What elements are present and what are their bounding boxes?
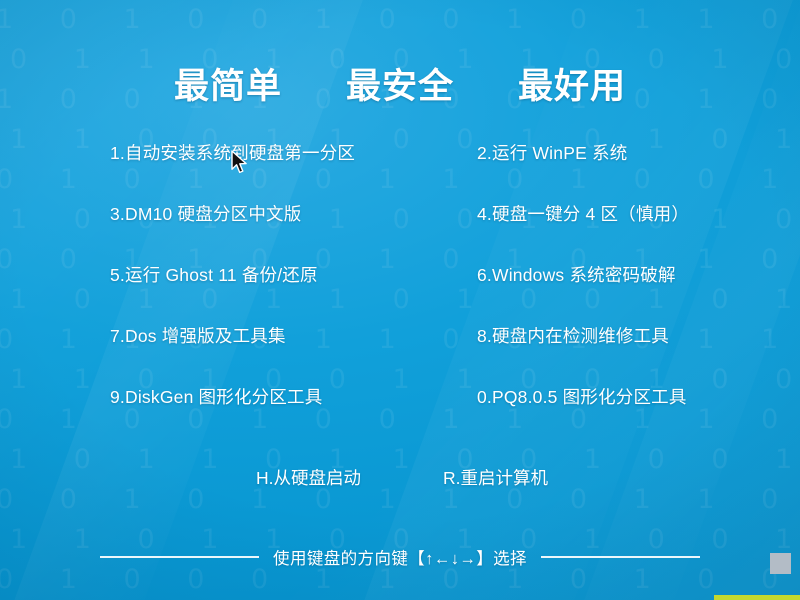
boot-menu-list: 1.自动安装系统到硬盘第一分区 2.运行 WinPE 系统 3.DM10 硬盘分… [0,140,800,445]
binary-texture-row: 1 0 1 1 0 1 1 0 0 1 0 0 1 0 1 0 1 1 0 0 [10,440,800,480]
boot-menu-screen: 1 0 1 0 0 1 0 0 1 0 1 1 0 0 1 0 1 0 0 10… [0,0,800,600]
menu-item-4[interactable]: 4.硬盘一键分 4 区（慎用） [477,201,689,226]
bottom-accent-bar [714,595,800,600]
menu-item-0[interactable]: 0.PQ8.0.5 图形化分区工具 [477,384,687,409]
menu-row: 3.DM10 硬盘分区中文版 4.硬盘一键分 4 区（慎用） [0,201,800,262]
menu-row: 9.DiskGen 图形化分区工具 0.PQ8.0.5 图形化分区工具 [0,384,800,445]
footer-hint: 使用键盘的方向键【↑←↓→】选择 [100,545,700,569]
headline-word-easiest: 最好用 [518,58,626,109]
menu-item-7[interactable]: 7.Dos 增强版及工具集 [110,323,286,348]
headline-slogan: 最简单 最安全 最好用 [0,58,800,109]
headline-word-safest: 最安全 [346,58,454,109]
menu-row: 7.Dos 增强版及工具集 8.硬盘内在检测维修工具 [0,323,800,384]
menu-item-boot-from-hdd[interactable]: H.从硬盘启动 [256,465,361,490]
menu-row: 5.运行 Ghost 11 备份/还原 6.Windows 系统密码破解 [0,262,800,323]
menu-item-2[interactable]: 2.运行 WinPE 系统 [477,140,627,165]
menu-item-5[interactable]: 5.运行 Ghost 11 备份/还原 [110,262,318,287]
menu-row: 1.自动安装系统到硬盘第一分区 2.运行 WinPE 系统 [0,140,800,201]
menu-item-1[interactable]: 1.自动安装系统到硬盘第一分区 [110,140,355,165]
menu-item-6[interactable]: 6.Windows 系统密码破解 [477,262,676,287]
footer-rule-left [100,556,259,558]
menu-item-reboot[interactable]: R.重启计算机 [443,465,548,490]
footer-rule-right [541,556,700,558]
headline-word-simplest: 最简单 [174,58,282,109]
footer-hint-text: 使用键盘的方向键【↑←↓→】选择 [273,545,527,569]
binary-texture-row: 0 0 1 0 1 0 1 1 0 0 1 1 0 1 0 0 1 0 1 1 [0,480,800,520]
binary-texture-row: 1 0 1 0 0 1 0 0 1 0 1 1 0 0 1 0 1 0 0 1 [0,0,800,40]
menu-item-8[interactable]: 8.硬盘内在检测维修工具 [477,323,669,348]
menu-item-9[interactable]: 9.DiskGen 图形化分区工具 [110,384,322,409]
menu-item-3[interactable]: 3.DM10 硬盘分区中文版 [110,201,301,226]
corner-marker-square [770,553,791,574]
